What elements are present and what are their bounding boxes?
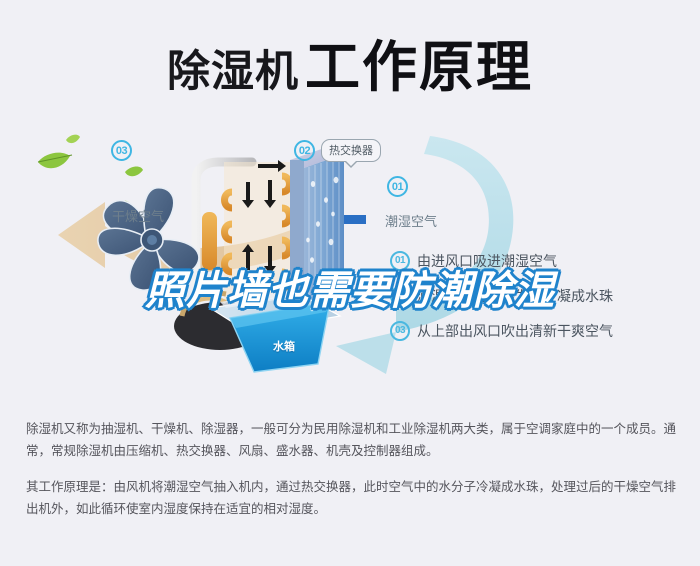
badge-heat-exchanger: 02 — [294, 140, 315, 161]
description-text: 除湿机又称为抽湿机、干燥机、除湿器，一般可分为民用除湿机和工业除湿机两大类，属于… — [26, 418, 678, 520]
infographic-page: 除湿机工作原理 — [0, 0, 700, 566]
badge-humid-air: 01 — [387, 176, 408, 197]
watermark-text: 照片墙也需要防潮除湿 — [145, 269, 555, 313]
callout-heat-exchanger: 热交换器 — [321, 139, 381, 162]
page-title: 除湿机工作原理 — [0, 22, 700, 102]
title-part-1: 除湿机 — [167, 48, 299, 96]
watermark-overlay: 照片墙也需要防潮除湿 — [0, 258, 700, 316]
step-number: 03 — [390, 321, 410, 341]
paragraph-2: 其工作原理是：由风机将潮湿空气抽入机内，通过热交换器，此时空气中的水分子冷凝成水… — [26, 476, 678, 520]
label-dry-air: 干燥空气 — [112, 206, 164, 225]
label-water-tank: 水箱 — [273, 338, 295, 354]
title-part-2: 工作原理 — [305, 36, 533, 98]
step-text: 从上部出风口吹出清新干爽空气 — [417, 321, 613, 341]
list-item: 03 从上部出风口吹出清新干爽空气 — [390, 313, 690, 348]
badge-dry-air: 03 — [111, 140, 132, 161]
humid-air-arrow-tail — [336, 332, 396, 374]
paragraph-1: 除湿机又称为抽湿机、干燥机、除湿器，一般可分为民用除湿机和工业除湿机两大类，属于… — [26, 418, 678, 462]
label-humid-air: 潮湿空气 — [385, 211, 437, 230]
